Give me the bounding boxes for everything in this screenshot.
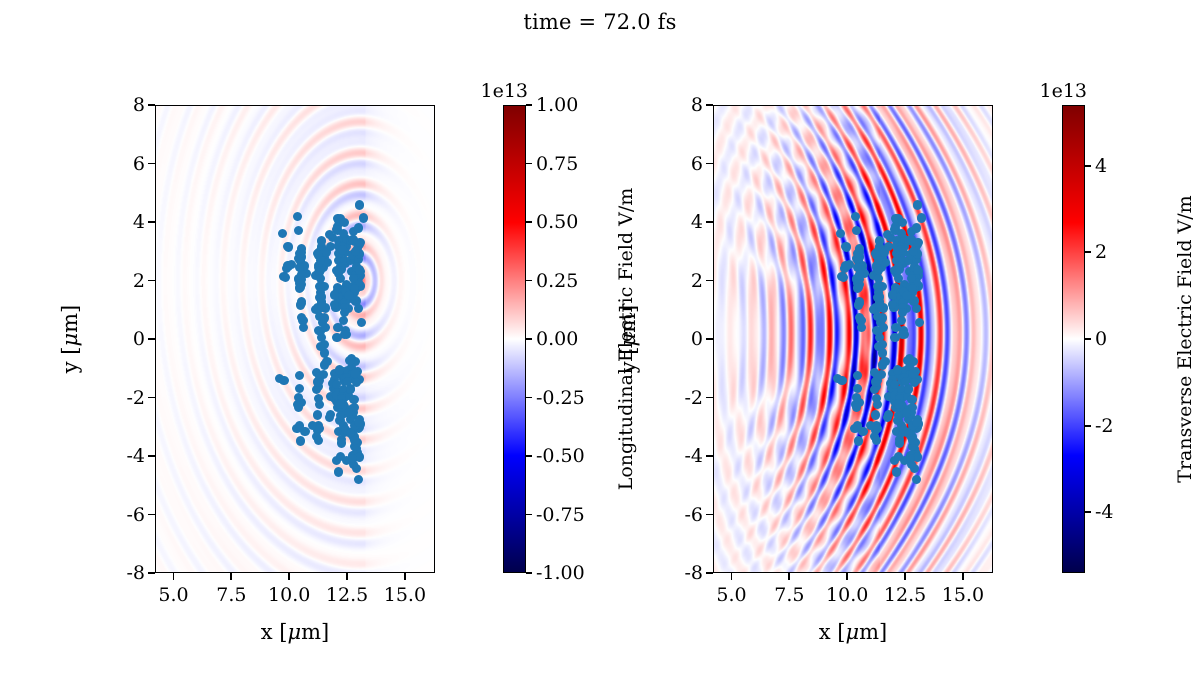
ytick-label-left-5: -2 [105, 387, 145, 409]
xtick-label-right-3: 12.5 [884, 584, 926, 606]
xtick-mark-right-3 [904, 573, 906, 580]
cbtick-mark-right-4 [1085, 511, 1091, 513]
xtick-mark-left-2 [288, 573, 290, 580]
ytick-mark-right-5 [706, 397, 713, 399]
ytick-label-right-3: 2 [663, 270, 703, 292]
cbtick-mark-right-0 [1085, 165, 1091, 167]
colorbar-offset-transverse: 1e13 [1039, 80, 1087, 102]
plot-area-transverse[interactable] [713, 105, 993, 573]
ytick-label-left-6: -4 [105, 445, 145, 467]
ytick-label-right-7: -6 [663, 504, 703, 526]
xtick-mark-left-3 [346, 573, 348, 580]
cbtick-mark-left-6 [526, 455, 532, 457]
field-heatmap-transverse [714, 106, 992, 572]
colorbar-longitudinal[interactable] [503, 105, 526, 573]
xtick-mark-right-0 [731, 573, 733, 580]
colorbar-offset-longitudinal: 1e13 [480, 80, 528, 102]
cbtick-label-right-4: -4 [1095, 501, 1114, 523]
ytick-mark-left-2 [148, 221, 155, 223]
xtick-mark-left-4 [404, 573, 406, 580]
ytick-mark-right-4 [706, 338, 713, 340]
ytick-label-left-4: 0 [105, 328, 145, 350]
colorbar-label-transverse: Transverse Electric Field V/m [1174, 195, 1196, 482]
xtick-label-left-1: 7.5 [216, 584, 246, 606]
colorbar-gradient-longitudinal [504, 106, 525, 572]
ytick-mark-right-3 [706, 280, 713, 282]
ytick-mark-right-1 [706, 163, 713, 165]
xtick-mark-left-1 [230, 573, 232, 580]
figure-canvas: time = 72.0 fs 1e13 1e13 Longitudinal El… [0, 0, 1200, 675]
ytick-mark-right-7 [706, 514, 713, 516]
ytick-label-right-2: 4 [663, 211, 703, 233]
colorbar-gradient-transverse [1063, 106, 1084, 572]
xtick-label-right-0: 5.0 [716, 584, 746, 606]
ytick-label-right-6: -4 [663, 445, 703, 467]
cbtick-label-left-3: 0.25 [536, 270, 578, 292]
cbtick-label-left-1: 0.75 [536, 153, 578, 175]
ytick-label-right-5: -2 [663, 387, 703, 409]
yaxis-label-left: y [μm] [58, 305, 82, 374]
xtick-mark-right-4 [962, 573, 964, 580]
xaxis-label-right: x [μm] [819, 620, 887, 644]
xtick-mark-left-0 [173, 573, 175, 580]
xtick-mark-right-2 [846, 573, 848, 580]
cbtick-label-left-4: 0.00 [536, 328, 578, 350]
cbtick-label-right-1: 2 [1095, 241, 1107, 263]
cbtick-mark-left-8 [526, 572, 532, 574]
field-heatmap-longitudinal [156, 106, 434, 572]
xtick-label-left-4: 15.0 [384, 584, 426, 606]
xtick-mark-right-1 [788, 573, 790, 580]
colorbar-transverse[interactable] [1062, 105, 1085, 573]
cbtick-label-left-8: -1.00 [536, 562, 585, 584]
ytick-label-left-3: 2 [105, 270, 145, 292]
ytick-label-right-8: -8 [663, 562, 703, 584]
ytick-mark-right-2 [706, 221, 713, 223]
ytick-mark-left-1 [148, 163, 155, 165]
ytick-label-left-1: 6 [105, 153, 145, 175]
ytick-label-left-7: -6 [105, 504, 145, 526]
ytick-mark-left-5 [148, 397, 155, 399]
cbtick-label-left-5: -0.25 [536, 387, 585, 409]
ytick-mark-left-0 [148, 104, 155, 106]
ytick-mark-left-4 [148, 338, 155, 340]
cbtick-label-right-0: 4 [1095, 155, 1107, 177]
cbtick-label-right-3: -2 [1095, 415, 1114, 437]
xtick-label-left-3: 12.5 [326, 584, 368, 606]
yaxis-label-right: y [μm] [616, 305, 640, 374]
cbtick-mark-right-3 [1085, 425, 1091, 427]
cbtick-label-right-2: 0 [1095, 328, 1107, 350]
cbtick-mark-left-7 [526, 514, 532, 516]
cbtick-label-left-0: 1.00 [536, 94, 578, 116]
xtick-label-right-2: 10.0 [826, 584, 868, 606]
cbtick-mark-left-3 [526, 280, 532, 282]
cbtick-mark-left-5 [526, 397, 532, 399]
cbtick-mark-left-4 [526, 338, 532, 340]
ytick-mark-left-7 [148, 514, 155, 516]
plot-area-longitudinal[interactable] [155, 105, 435, 573]
cbtick-mark-left-0 [526, 104, 532, 106]
cbtick-label-left-2: 0.50 [536, 211, 578, 233]
xaxis-label-left: x [μm] [261, 620, 329, 644]
cbtick-mark-right-2 [1085, 338, 1091, 340]
xtick-label-right-1: 7.5 [774, 584, 804, 606]
ytick-mark-left-6 [148, 455, 155, 457]
ytick-mark-left-3 [148, 280, 155, 282]
cbtick-mark-left-2 [526, 221, 532, 223]
xtick-label-right-4: 15.0 [942, 584, 984, 606]
ytick-mark-left-8 [148, 572, 155, 574]
ytick-label-left-0: 8 [105, 94, 145, 116]
ytick-label-left-2: 4 [105, 211, 145, 233]
ytick-label-right-1: 6 [663, 153, 703, 175]
cbtick-label-left-7: -0.75 [536, 504, 585, 526]
cbtick-label-left-6: -0.50 [536, 445, 585, 467]
ytick-label-right-0: 8 [663, 94, 703, 116]
ytick-label-right-4: 0 [663, 328, 703, 350]
xtick-label-left-0: 5.0 [158, 584, 188, 606]
ytick-label-left-8: -8 [105, 562, 145, 584]
ytick-mark-right-8 [706, 572, 713, 574]
cbtick-mark-left-1 [526, 163, 532, 165]
ytick-mark-right-0 [706, 104, 713, 106]
xtick-label-left-2: 10.0 [268, 584, 310, 606]
ytick-mark-right-6 [706, 455, 713, 457]
cbtick-mark-right-1 [1085, 251, 1091, 253]
figure-title: time = 72.0 fs [0, 10, 1200, 34]
